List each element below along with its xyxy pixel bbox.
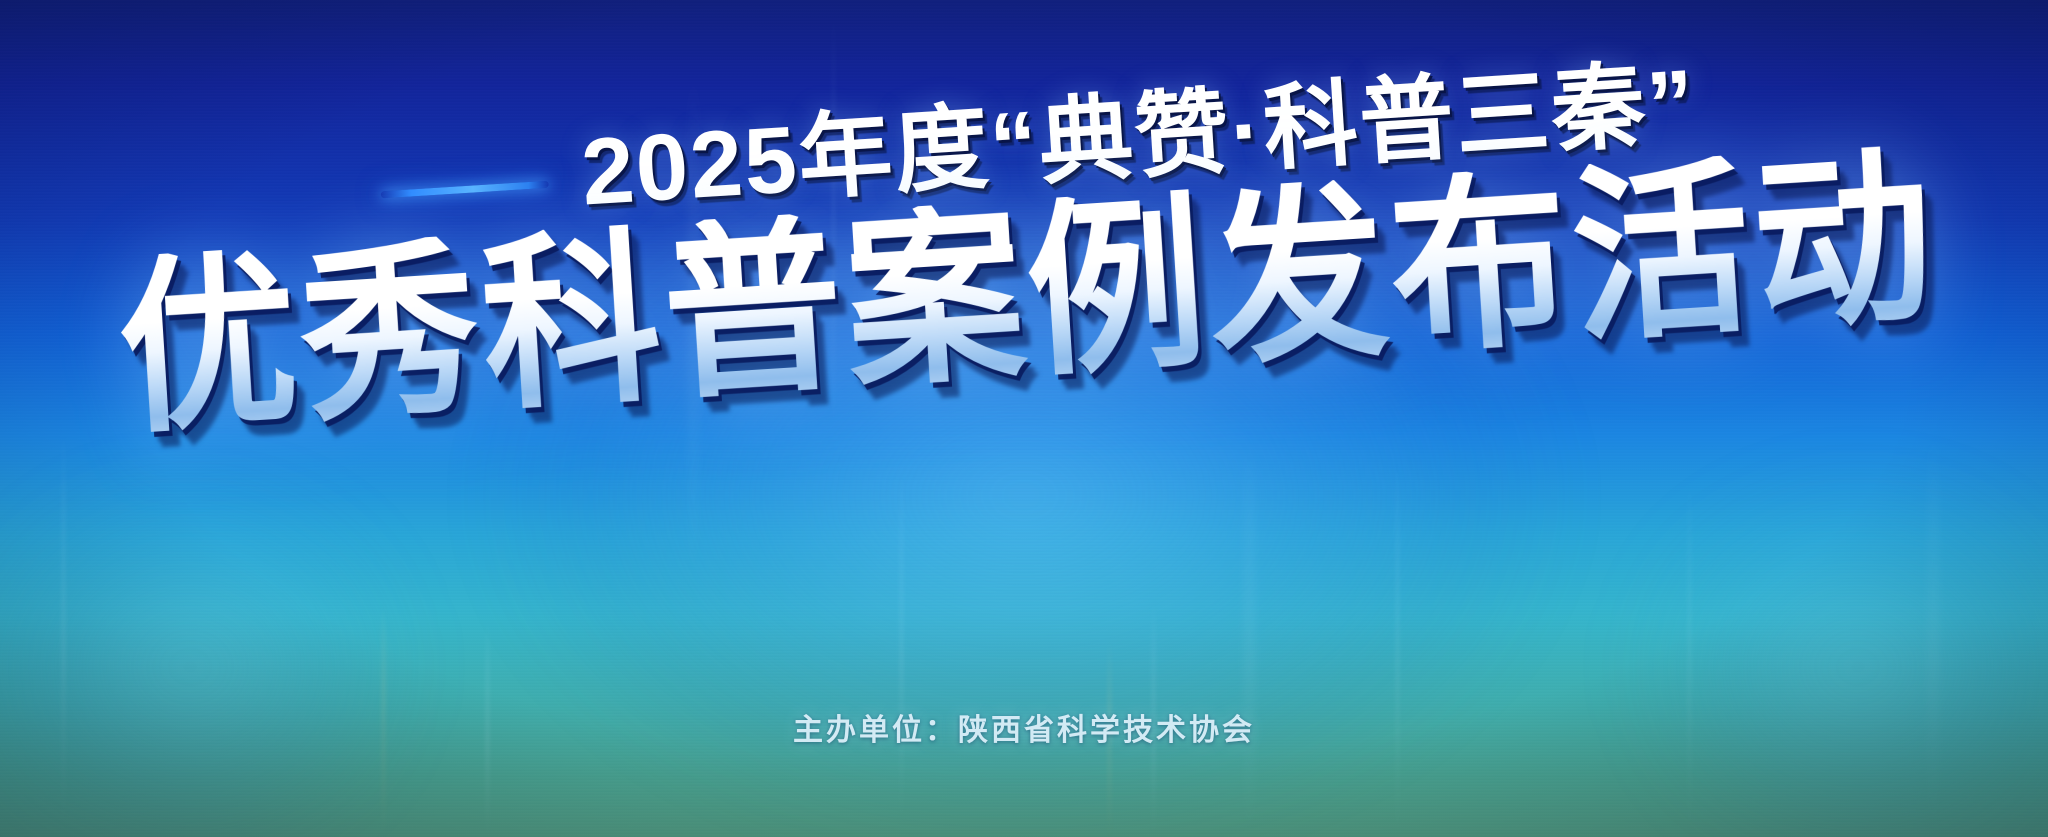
background-gradient [0,0,2048,837]
event-banner: 2025年度“典赞·科普三秦” 优秀科普案例发布活动 主办单位：陕西省科学技术协… [0,0,2048,837]
